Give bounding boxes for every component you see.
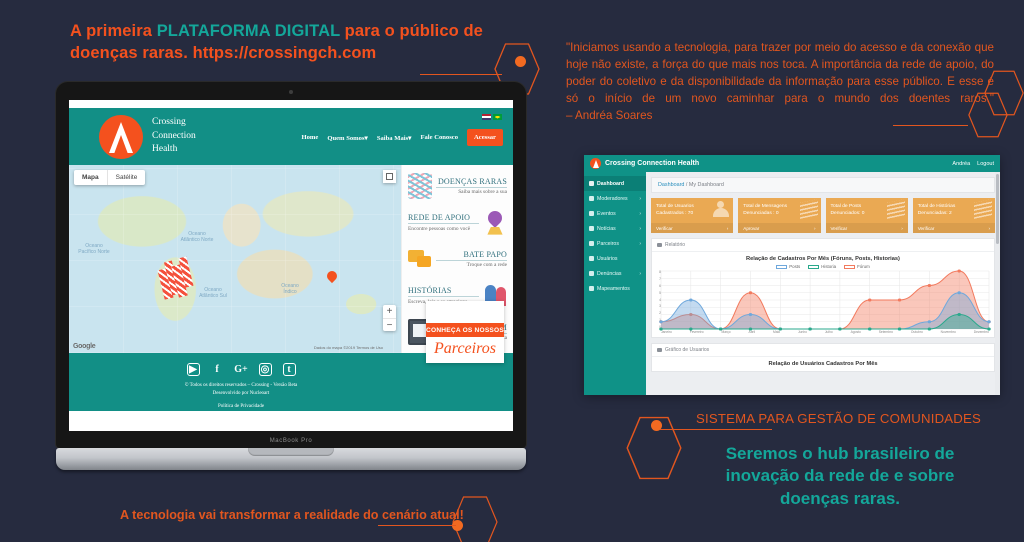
chart-point[interactable] — [898, 328, 901, 331]
map-type-satelite[interactable]: Satélite — [107, 170, 146, 185]
chart-x-tick: Março — [721, 330, 730, 334]
home-icon — [589, 181, 594, 186]
sidebar-item-noticias[interactable]: Notícias › — [584, 221, 646, 236]
stat-card-action[interactable]: Aprovar — [743, 226, 759, 231]
chart-x-tick: Abril — [749, 330, 756, 334]
map-pin-icon — [483, 210, 507, 236]
chart-point[interactable] — [868, 328, 871, 331]
stat-card-action[interactable]: Verificar — [831, 226, 848, 231]
feature-title: DOENÇAS RARAS — [436, 177, 507, 188]
calendar-icon — [589, 211, 594, 216]
chart-svg — [661, 271, 989, 329]
sidebar-item-label: Dashboard — [597, 181, 624, 187]
report-panel-header: Relatório — [652, 239, 994, 252]
chart-y-tick: 0 — [659, 326, 661, 329]
report-panel-label: Relatório — [665, 242, 685, 248]
map-fullscreen-button[interactable] — [383, 170, 396, 183]
chart-point[interactable] — [868, 299, 871, 302]
website-preview: Crossing Connection Health Home Quem Som… — [69, 100, 513, 431]
sidebar-item-label: Moderadores — [597, 196, 628, 202]
br-flag-icon[interactable] — [493, 114, 502, 120]
chart-legend[interactable]: Posts Historia Fórum — [652, 264, 994, 271]
chart-y-tick: 4 — [659, 299, 661, 302]
stat-card-historias[interactable]: Total de Histórias Denunciadas: 2 Verifi… — [913, 198, 995, 233]
nav-item-quem-somos[interactable]: Quem Somos▾ — [327, 134, 368, 142]
chart-point[interactable] — [928, 328, 931, 331]
sidebar-item-dashboard[interactable]: Dashboard — [584, 176, 646, 191]
site-navigation[interactable]: Home Quem Somos▾ Saiba Mais▾ Fale Conosc… — [301, 129, 503, 146]
partners-card-top — [426, 301, 504, 323]
sidebar-item-label: Mapeamentos — [597, 286, 630, 292]
chart-y-tick: 1 — [659, 319, 661, 322]
chart-point[interactable] — [898, 299, 901, 302]
feature-subtitle: Saiba mais sobre a sua — [436, 189, 507, 195]
stat-card-posts[interactable]: Total de Posts Denunciados: 0 Verificar … — [826, 198, 908, 233]
chart-point[interactable] — [928, 320, 931, 323]
user-icon — [589, 256, 594, 261]
site-footer: ▶ f G+ ◎ t © Todos os direitos reservado… — [69, 353, 513, 411]
testimonial-quote: "Iniciamos usando a tecnologia, para tra… — [566, 39, 994, 124]
social-links[interactable]: ▶ f G+ ◎ t — [69, 363, 513, 376]
breadcrumb-root[interactable]: Dashboard — [658, 182, 684, 188]
legend-swatch — [808, 265, 819, 269]
language-flags[interactable] — [482, 114, 502, 120]
chart-point[interactable] — [987, 320, 990, 323]
legend-label: Posts — [789, 264, 800, 269]
caption-bottom-left: A tecnologia vai transformar a realidade… — [120, 508, 464, 522]
stat-card-mensagens[interactable]: Total de Mensagens Denunciadas : 0 Aprov… — [738, 198, 820, 233]
shield-icon — [589, 196, 594, 201]
chart-y-tick: 5 — [659, 292, 661, 295]
map-zoom-controls[interactable]: + − — [383, 305, 396, 331]
partners-word-label: Parceiros — [426, 337, 504, 358]
legend-label: Fórum — [857, 264, 870, 269]
sidebar-item-mapeamentos[interactable]: Mapeamentos — [584, 281, 646, 296]
chart-x-tick: Fevereiro — [690, 330, 704, 334]
ocean-label-atlantico-sul: Oceano Atlântico Sul — [195, 287, 231, 300]
dna-icon — [408, 173, 432, 199]
feature-rede-de-apoio[interactable]: REDE DE APOIO Encontre pessoas como você — [408, 206, 507, 238]
quote-underline — [893, 125, 968, 126]
bottom-left-underline — [378, 525, 456, 526]
nav-item-saiba-mais[interactable]: Saiba Mais▾ — [377, 134, 412, 142]
quote-author: – Andréa Soares — [566, 109, 652, 122]
brand-line-2: Connection — [152, 130, 196, 143]
partners-card[interactable]: CONHEÇA OS NOSSOS Parceiros — [426, 301, 504, 363]
sistema-underline — [660, 429, 772, 430]
chart-plot-area: 876543210 — [661, 271, 989, 329]
map-zoom-out-button[interactable]: − — [383, 318, 396, 331]
world-map[interactable]: Oceano Pacífico Norte Oceano Atlântico N… — [69, 165, 401, 353]
chevron-right-icon: › — [901, 226, 903, 231]
chart-point[interactable] — [987, 328, 990, 331]
privacy-policy-link[interactable]: Política de Privacidade — [69, 403, 513, 411]
chevron-right-icon: › — [814, 226, 816, 231]
youtube-icon[interactable]: ▶ — [187, 363, 200, 376]
chart-point[interactable] — [957, 313, 960, 316]
laptop-model-label: MacBook Pro — [56, 438, 526, 444]
acessar-button[interactable]: Acessar — [467, 129, 503, 146]
chart-x-tick: Dezembro — [974, 330, 989, 334]
dashboard-main: Dashboard / My Dashboard Total de Usuari… — [646, 172, 1000, 395]
scrollbar-thumb[interactable] — [996, 174, 999, 244]
chat-bubbles-icon — [408, 246, 432, 272]
chevron-right-icon: › — [639, 271, 641, 277]
chevron-right-icon: › — [988, 226, 990, 231]
webcam-icon — [289, 90, 293, 94]
sidebar-item-label: Usuários — [597, 256, 617, 262]
chart-y-tick: 6 — [659, 285, 661, 288]
sidebar-item-denuncias[interactable]: Denúncias › — [584, 266, 646, 281]
copyright-line-1: © Todos os direitos reservados – Crossin… — [69, 382, 513, 390]
dashboard-user-area[interactable]: Andréa Logout — [952, 161, 994, 167]
chart-y-tick: 2 — [659, 312, 661, 315]
footer-text: © Todos os direitos reservados – Crossin… — [69, 382, 513, 411]
map-zoom-in-button[interactable]: + — [383, 305, 396, 318]
caption-sistema: SISTEMA PARA GESTÃO DE COMUNIDADES — [696, 411, 981, 426]
sidebar-item-label: Eventos — [597, 211, 616, 217]
chart-y-axis: 876543210 — [655, 271, 661, 329]
headline-highlight: PLATAFORMA DIGITAL — [157, 22, 340, 40]
chart-x-tick: Outubro — [911, 330, 923, 334]
feature-subtitle: Troque com a rede — [436, 262, 507, 268]
legend-item-posts[interactable]: Posts — [776, 264, 800, 269]
chart-x-tick: Novembro — [941, 330, 956, 334]
chart-point[interactable] — [719, 328, 722, 331]
chart-point[interactable] — [838, 328, 841, 331]
chart-point[interactable] — [957, 291, 960, 294]
ocean-label-atlantico-norte: Oceano Atlântico Norte — [179, 231, 215, 244]
dashboard-screenshot: Crossing Connection Health Andréa Logout… — [584, 155, 1000, 395]
chevron-right-icon: › — [727, 226, 729, 231]
flag-icon — [589, 271, 594, 276]
stat-card-action[interactable]: Verificar — [918, 226, 935, 231]
hexagon-line-top — [420, 74, 502, 75]
laptop-screen: Crossing Connection Health Home Quem Som… — [69, 100, 513, 431]
sidebar-item-moderadores[interactable]: Moderadores › — [584, 191, 646, 206]
map-pin[interactable] — [327, 271, 337, 284]
map-type-toggle[interactable]: Mapa Satélite — [74, 170, 145, 185]
brand-line-3: Health — [152, 143, 196, 156]
user-chart-panel: Gráfico de Usuarios Relação de Usuários … — [651, 343, 995, 372]
chart-title: Relação de Cadastros Por Mês (Fóruns, Po… — [652, 252, 994, 264]
chart-y-tick: 8 — [659, 271, 661, 274]
feature-title: BATE PAPO — [436, 250, 507, 261]
report-panel: Relatório Relação de Cadastros Por Mês (… — [651, 238, 995, 338]
person-icon — [712, 201, 730, 217]
browser-chrome — [69, 100, 513, 108]
legend-item-historia[interactable]: Historia — [808, 264, 836, 269]
instagram-icon[interactable]: ◎ — [259, 363, 272, 376]
chevron-right-icon: › — [639, 196, 641, 202]
breadcrumb[interactable]: Dashboard / My Dashboard — [651, 177, 995, 193]
map-grid — [69, 165, 401, 353]
dashboard-body: Dashboard Moderadores › Eventos › Notíci… — [584, 172, 1000, 395]
user-chart-title: Relação de Usuários Cadastros Por Mês — [652, 357, 994, 371]
logout-button[interactable]: Logout — [977, 161, 994, 167]
nav-item-home[interactable]: Home — [301, 134, 318, 141]
page-title: A primeira PLATAFORMA DIGITAL para o púb… — [70, 21, 540, 65]
twitter-icon[interactable]: t — [283, 363, 296, 376]
sidebar-item-label: Denúncias — [597, 271, 622, 277]
site-brand: Crossing Connection Health — [152, 116, 196, 156]
user-chart-panel-label: Gráfico de Usuarios — [665, 347, 709, 353]
poster-canvas: A primeira PLATAFORMA DIGITAL para o púb… — [0, 0, 1024, 542]
sidebar-item-eventos[interactable]: Eventos › — [584, 206, 646, 221]
folder-icon — [657, 348, 662, 352]
crossing-logo-icon — [99, 115, 143, 159]
stat-cards: Total de Usuarios Cadastrados : 70 Verif… — [651, 198, 995, 233]
map-type-mapa[interactable]: Mapa — [74, 170, 107, 185]
legend-swatch — [844, 265, 855, 269]
chart-point[interactable] — [928, 284, 931, 287]
news-icon — [589, 226, 594, 231]
chart-y-tick: 7 — [659, 278, 661, 281]
chart-x-tick: Janeiro — [661, 330, 672, 334]
stat-card-usuarios[interactable]: Total de Usuarios Cadastrados : 70 Verif… — [651, 198, 733, 233]
chevron-right-icon: › — [639, 211, 641, 217]
us-flag-icon[interactable] — [482, 114, 491, 120]
dashboard-sidebar[interactable]: Dashboard Moderadores › Eventos › Notíci… — [584, 172, 646, 395]
feature-title: REDE DE APOIO — [408, 213, 479, 224]
chevron-right-icon: › — [639, 241, 641, 247]
dashboard-username: Andréa — [952, 161, 970, 167]
feature-subtitle: Encontre pessoas como você — [408, 226, 479, 232]
legend-label: Historia — [821, 264, 836, 269]
sidebar-item-label: Parceiros — [597, 241, 619, 247]
chart-point[interactable] — [749, 313, 752, 316]
folder-icon — [657, 243, 662, 247]
legend-item-forum[interactable]: Fórum — [844, 264, 870, 269]
chart-x-tick: Julho — [825, 330, 833, 334]
chart-x-tick: Setembro — [879, 330, 893, 334]
dashboard-logo-icon — [590, 158, 601, 169]
grid-icon — [589, 286, 594, 291]
dashboard-topbar: Crossing Connection Health Andréa Logout — [584, 155, 1000, 172]
feature-doencas-raras[interactable]: DOENÇAS RARAS Saiba mais sobre a sua — [408, 170, 507, 202]
feature-title: HISTÓRIAS — [408, 286, 479, 297]
chevron-right-icon: › — [639, 226, 641, 232]
legend-swatch — [776, 265, 787, 269]
laptop-lid: MacBook Pro Crossing Connection Health — [56, 82, 526, 448]
site-header: Crossing Connection Health Home Quem Som… — [69, 108, 513, 165]
partners-bar-label: CONHEÇA OS NOSSOS — [426, 323, 504, 337]
ocean-label-indico: Oceano Índico — [275, 283, 305, 296]
ocean-label-pacifico-norte: Oceano Pacífico Norte — [77, 243, 111, 256]
quote-text: "Iniciamos usando a tecnologia, para tra… — [566, 41, 994, 105]
dashboard-brand: Crossing Connection Health — [605, 160, 699, 167]
chart-x-tick: Maio — [773, 330, 780, 334]
chart-y-tick: 3 — [659, 305, 661, 308]
map-credit: Dados do mapa ©2019 Termos de Uso — [314, 345, 383, 350]
facebook-icon[interactable]: f — [211, 363, 224, 376]
handshake-icon — [589, 241, 594, 246]
laptop-base — [56, 448, 526, 470]
copyright-line-2: Desenvolvido por Nucleoart — [69, 390, 513, 398]
chart-point[interactable] — [689, 299, 692, 302]
feature-bate-papo[interactable]: BATE PAPO Troque com a rede — [408, 243, 507, 275]
stat-card-action[interactable]: Verificar — [656, 226, 673, 231]
sidebar-item-label: Notícias — [597, 226, 616, 232]
chart-x-tick: Agosto — [851, 330, 861, 334]
breadcrumb-current: My Dashboard — [689, 182, 724, 188]
sidebar-item-usuarios[interactable]: Usuários — [584, 251, 646, 266]
dashboard-scrollbar[interactable] — [995, 172, 1000, 395]
google-watermark: Google — [73, 343, 95, 350]
chart-x-tick: Junho — [798, 330, 807, 334]
chart-point[interactable] — [689, 328, 692, 331]
caption-hub: Seremos o hub brasileiro de inovação da … — [690, 443, 990, 510]
brand-line-1: Crossing — [152, 116, 196, 129]
chart-point[interactable] — [957, 270, 960, 273]
laptop-mockup: MacBook Pro Crossing Connection Health — [56, 82, 526, 470]
sidebar-item-parceiros[interactable]: Parceiros › — [584, 236, 646, 251]
chart-point[interactable] — [779, 328, 782, 331]
headline-part1: A primeira — [70, 22, 157, 40]
chart-point[interactable] — [808, 328, 811, 331]
laptop-notch — [248, 448, 334, 456]
chart-point[interactable] — [749, 291, 752, 294]
nav-item-fale-conosco[interactable]: Fale Conosco — [420, 134, 458, 141]
google-plus-icon[interactable]: G+ — [235, 363, 248, 376]
chart-point[interactable] — [749, 328, 752, 331]
user-chart-panel-header: Gráfico de Usuarios — [652, 344, 994, 357]
